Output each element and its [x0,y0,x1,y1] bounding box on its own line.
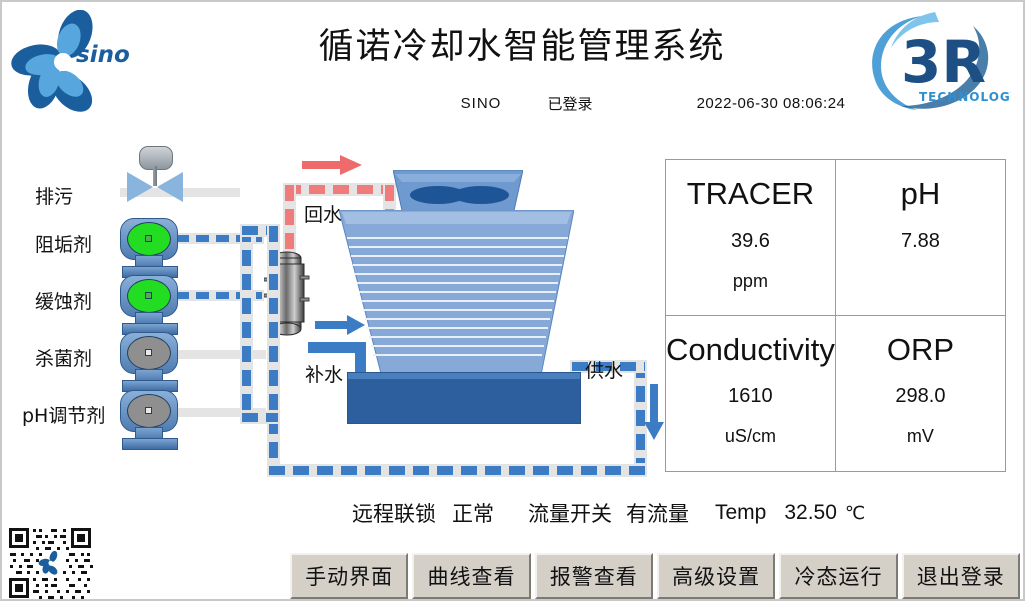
reading-name: TRACER [687,176,814,212]
reading-unit: ppm [733,271,768,292]
pump-center-dot-icon [145,292,152,299]
header-info-bar: SINO 已登录 2022-06-30 08:06:24 [442,92,922,114]
logout-button[interactable]: 退出登录 [902,553,1020,599]
valve-body-right-icon [157,172,183,202]
temperature-label: Temp [715,501,766,525]
qr-code-graphic [7,526,95,601]
dosing-label-biocide: 杀菌剂 [35,344,92,371]
flow-switch-label: 流量开关 [528,498,612,528]
makeup-water-label: 补水 [305,360,343,387]
reading-conductivity: Conductivity 1610 uS/cm [666,316,836,472]
reading-value: 7.88 [901,230,940,253]
cooling-tower-fan [393,170,523,215]
sino-logo-text: sino [76,42,130,68]
cold-start-button[interactable]: 冷态运行 [779,553,897,599]
reading-tracer: TRACER 39.6 ppm [666,160,836,316]
dosing-label-corrosion-inhibitor: 缓蚀剂 [35,287,92,314]
reading-ph: pH 7.88 [836,160,1005,316]
reading-name: ORP [887,332,954,368]
dosing-label-blowdown: 排污 [35,182,73,209]
tower-graphic [339,210,574,385]
return-water-label: 回水 [304,200,342,227]
remote-interlock-value: 正常 [452,498,494,528]
recirc-line-vertical-inner [267,224,280,464]
return-flow-arrow-icon [302,154,364,176]
pump-center-dot-icon [145,349,152,356]
blowdown-valve-icon[interactable] [123,146,187,204]
temperature-unit: ℃ [845,503,865,524]
sino-logo-graphic: sino [10,10,140,115]
reading-unit: uS/cm [725,426,776,447]
reading-orp: ORP 298.0 mV [836,316,1005,472]
pump-center-dot-icon [145,235,152,242]
reading-name: pH [901,176,941,212]
application-window: sino 循诺冷却水智能管理系统 SINO 已登录 2022-06-30 08:… [0,0,1025,601]
pump-antiscalant[interactable] [116,218,182,276]
qr-code [7,526,95,601]
manual-interface-button[interactable]: 手动界面 [290,553,408,599]
reading-value: 39.6 [731,230,770,253]
dosing-label-ph-adjuster: pH调节剂 [22,401,105,428]
status-bar: 远程联锁 正常 流量开关 有流量 Temp 32.50 ℃ [352,496,1022,530]
temperature-value: 32.50 [784,501,837,525]
alarm-view-button[interactable]: 报警查看 [535,553,653,599]
valve-body-left-icon [127,172,153,202]
recirc-line-bottom [267,464,647,477]
3r-logo-subtext: TECHNOLOGY [919,90,1011,104]
supply-flow-arrow-icon [643,384,665,442]
measurement-panel: TRACER 39.6 ppm pH 7.88 Conductivity 161… [665,159,1006,472]
3r-technology-logo: 3R TECHNOLOGY [861,6,1011,118]
remote-interlock-label: 远程联锁 [352,498,436,528]
pump-base-icon [122,438,178,450]
recirc-line-jog [240,411,280,424]
pump-biocide[interactable] [116,332,182,390]
login-status: 已登录 [520,93,620,114]
bottom-button-bar: 手动界面 曲线查看 报警查看 高级设置 冷态运行 退出登录 [290,553,1020,599]
fan-graphic [393,170,523,215]
reading-unit: mV [907,426,934,447]
current-user: SINO [442,95,520,112]
3r-logo-graphic: 3R TECHNOLOGY [861,6,1011,118]
dosing-label-antiscalant: 阻垢剂 [35,230,92,257]
reading-value: 1610 [728,385,773,408]
pump-ph-adjuster[interactable] [116,390,182,448]
cooling-tower-basin [347,372,581,424]
advanced-settings-button[interactable]: 高级设置 [657,553,775,599]
sino-logo: sino [10,10,140,115]
cooling-tower-body [339,210,574,385]
recirc-line-vertical-outer [240,224,253,424]
page-title: 循诺冷却水智能管理系统 [302,18,742,69]
return-line-horizontal [283,183,396,196]
flow-switch-value: 有流量 [626,498,689,528]
supply-water-label: 供水 [585,356,623,383]
reading-name: Conductivity [666,332,835,368]
3r-logo-text: 3R [901,28,986,96]
reading-value: 298.0 [895,385,945,408]
pump-corrosion-inhibitor[interactable] [116,275,182,333]
pump-center-dot-icon [145,407,152,414]
trend-view-button[interactable]: 曲线查看 [412,553,530,599]
